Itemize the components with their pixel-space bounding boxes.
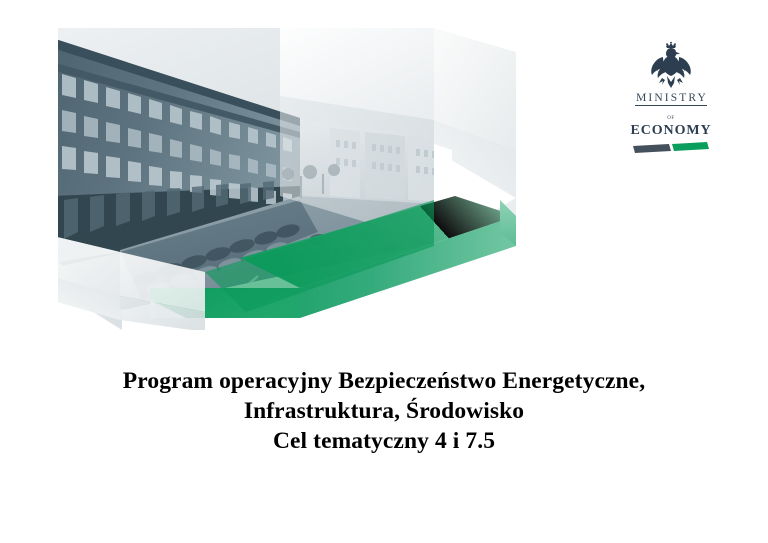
logo-accent-bars <box>631 142 711 155</box>
page-title: Program operacyjny Bezpieczeństwo Energe… <box>64 366 704 456</box>
title-line-3: Cel tematyczny 4 i 7.5 <box>64 426 704 456</box>
logo-bar-green <box>672 142 709 151</box>
logo-divider-rule <box>635 105 707 106</box>
logo-text-of: OF <box>665 116 677 122</box>
title-line-2: Infrastruktura, Środowisko <box>64 396 704 426</box>
logo-text-ministry: MINISTRY <box>625 92 717 104</box>
title-line-1: Program operacyjny Bezpieczeństwo Energe… <box>64 366 704 396</box>
polish-eagle-emblem <box>648 40 694 90</box>
logo-bar-dark <box>633 144 671 153</box>
presentation-slide: MINISTRY OF ECONOMY Program operacyjny B… <box>0 0 768 543</box>
logo-text-economy: ECONOMY <box>625 123 717 138</box>
logo-wordmark: MINISTRY OF ECONOMY <box>625 92 717 138</box>
hero-graphic <box>0 0 560 350</box>
ministry-of-economy-logo: MINISTRY OF ECONOMY <box>625 40 717 136</box>
